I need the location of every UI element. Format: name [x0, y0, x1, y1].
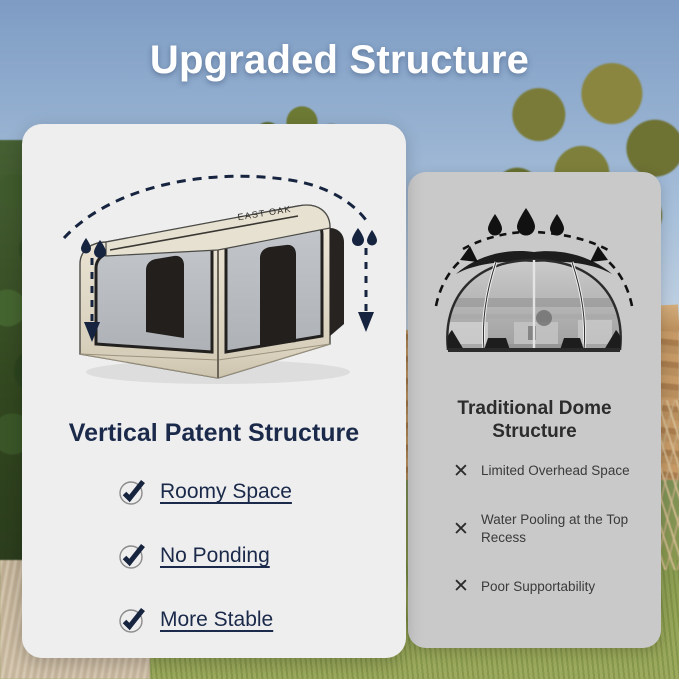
traditional-dome-heading: Traditional Dome Structure — [420, 397, 649, 443]
list-item: Roomy Space — [118, 471, 378, 513]
heading-line-2: Structure — [492, 421, 576, 442]
top-recess-dash-line — [463, 232, 608, 250]
x-mark-icon: ✕ — [450, 520, 472, 539]
water-runoff-arrow-right — [358, 248, 374, 332]
traditional-dome-drawback-list: ✕ Limited Overhead Space ✕ Water Pooling… — [450, 462, 655, 626]
traditional-dome-tent-illustration — [418, 202, 651, 382]
list-item-label: More Stable — [160, 608, 273, 632]
door-opening-left — [146, 256, 184, 338]
door-opening-right — [260, 245, 296, 346]
list-item-label: Poor Supportability — [481, 578, 595, 596]
side-panel-dark — [330, 228, 344, 336]
list-item: No Ponding — [118, 535, 378, 577]
list-item: ✕ Limited Overhead Space — [450, 462, 655, 481]
list-item-label: No Ponding — [160, 544, 270, 568]
vertical-patent-card: EAST OAK — [22, 124, 406, 658]
infographic-canvas: Upgraded Structure — [0, 0, 679, 679]
list-item: More Stable — [118, 599, 378, 641]
page-title: Upgraded Structure — [0, 38, 679, 83]
x-mark-icon: ✕ — [450, 462, 472, 481]
list-item: ✕ Water Pooling at the Top Recess — [450, 511, 655, 547]
heading-line-1: Traditional Dome — [457, 398, 611, 419]
vertical-patent-tent-illustration: EAST OAK — [22, 146, 406, 396]
vertical-patent-heading: Vertical Patent Structure — [22, 419, 406, 448]
check-circle-icon — [118, 606, 146, 634]
list-item-label: Roomy Space — [160, 480, 292, 504]
check-circle-icon — [118, 542, 146, 570]
list-item-label: Water Pooling at the Top Recess — [481, 511, 655, 547]
check-circle-icon — [118, 478, 146, 506]
list-item: ✕ Poor Supportability — [450, 577, 655, 596]
vertical-patent-benefit-list: Roomy Space No Ponding — [118, 471, 378, 663]
traditional-dome-card: Traditional Dome Structure ✕ Limited Ove… — [408, 172, 661, 648]
x-mark-icon: ✕ — [450, 577, 472, 596]
water-drop-icon-right — [352, 228, 377, 246]
list-item-label: Limited Overhead Space — [481, 462, 630, 480]
